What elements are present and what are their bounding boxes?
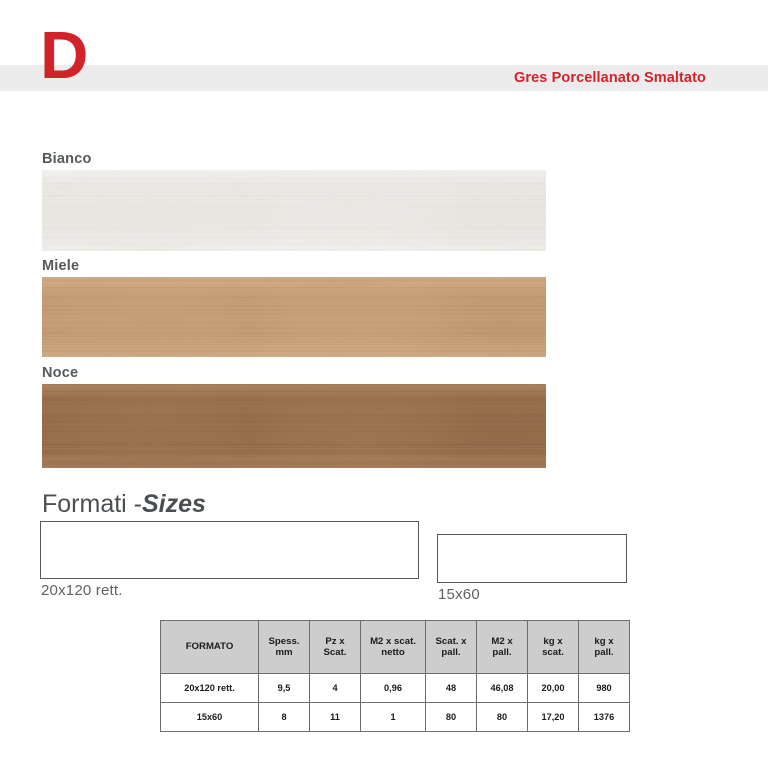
cell-pz-x-scat: 11	[310, 703, 361, 732]
th-m2-x-scat-netto: M2 x scat. netto	[361, 621, 426, 674]
format-caption-15x60: 15x60	[438, 586, 480, 603]
formati-heading-regular: Formati -	[42, 490, 142, 518]
format-caption-20x120: 20x120 rett.	[41, 582, 123, 599]
cell-kg-x-pall: 980	[579, 674, 630, 703]
formati-heading: Formati -Sizes	[42, 490, 206, 519]
th-line: kg x	[543, 636, 562, 647]
wood-grain-texture	[42, 170, 546, 251]
th-kg-x-pall: kg x pall.	[579, 621, 630, 674]
table-header-row: FORMATO Spess. mm Pz x Scat. M2 x scat. …	[161, 621, 630, 674]
cell-kg-x-pall: 1376	[579, 703, 630, 732]
swatch-label-noce: Noce	[42, 365, 78, 381]
cell-scat-x-pall: 80	[426, 703, 477, 732]
cell-m2-x-scat-netto: 0,96	[361, 674, 426, 703]
cell-spessore: 8	[259, 703, 310, 732]
wood-grain-texture	[42, 277, 546, 357]
th-line: M2 x scat.	[370, 636, 416, 647]
th-pz-x-scat: Pz x Scat.	[310, 621, 361, 674]
th-formato: FORMATO	[161, 621, 259, 674]
th-line: Scat.	[324, 647, 347, 658]
format-diagram-15x60	[437, 534, 627, 583]
th-spessore: Spess. mm	[259, 621, 310, 674]
cell-m2-x-pall: 46,08	[477, 674, 528, 703]
th-m2-x-pall: M2 x pall.	[477, 621, 528, 674]
swatch-tile-noce	[42, 384, 546, 468]
th-line: scat.	[542, 647, 564, 658]
table-row: 15x60 8 11 1 80 80 17,20 1376	[161, 703, 630, 732]
th-line: pall.	[594, 647, 613, 658]
swatch-label-bianco: Bianco	[42, 151, 92, 167]
page-title: Gres Porcellanato Smaltato	[514, 70, 706, 86]
cell-spessore: 9,5	[259, 674, 310, 703]
swatch-tile-miele	[42, 277, 546, 357]
brand-logo-letter: D	[40, 22, 87, 89]
swatch-label-miele: Miele	[42, 258, 79, 274]
format-diagram-20x120	[40, 521, 419, 579]
cell-scat-x-pall: 48	[426, 674, 477, 703]
th-kg-x-scat: kg x scat.	[528, 621, 579, 674]
cell-pz-x-scat: 4	[310, 674, 361, 703]
th-line: kg x	[594, 636, 613, 647]
table-row: 20x120 rett. 9,5 4 0,96 48 46,08 20,00 9…	[161, 674, 630, 703]
th-scat-x-pall: Scat. x pall.	[426, 621, 477, 674]
th-line: pall.	[441, 647, 460, 658]
cell-formato: 15x60	[161, 703, 259, 732]
th-line: Pz x	[325, 636, 344, 647]
cell-m2-x-scat-netto: 1	[361, 703, 426, 732]
th-line: FORMATO	[186, 641, 234, 652]
th-line: mm	[275, 647, 292, 658]
cell-m2-x-pall: 80	[477, 703, 528, 732]
th-line: netto	[381, 647, 404, 658]
cell-kg-x-scat: 17,20	[528, 703, 579, 732]
formati-heading-italic: Sizes	[142, 490, 206, 518]
th-line: M2 x	[491, 636, 512, 647]
swatch-tile-bianco	[42, 170, 546, 251]
specification-table: FORMATO Spess. mm Pz x Scat. M2 x scat. …	[160, 620, 630, 732]
cell-formato: 20x120 rett.	[161, 674, 259, 703]
wood-grain-texture	[42, 384, 546, 468]
cell-kg-x-scat: 20,00	[528, 674, 579, 703]
th-line: pall.	[492, 647, 511, 658]
th-line: Scat. x	[436, 636, 467, 647]
th-line: Spess.	[269, 636, 300, 647]
